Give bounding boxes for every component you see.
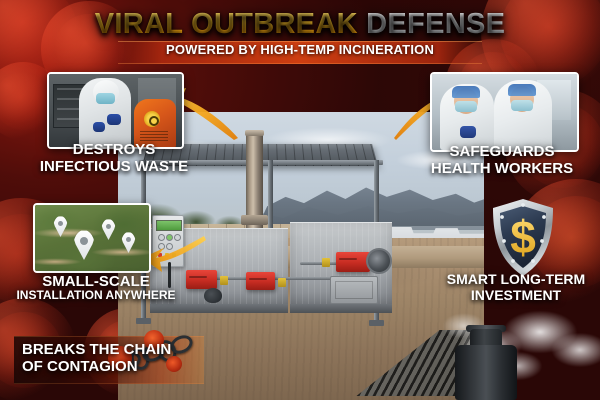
photo-glove-left: [93, 122, 105, 132]
arrow-to-map-photo: [142, 232, 206, 274]
callout-line-2: HEALTH WORKERS: [412, 160, 592, 177]
title-plain: DEFENSE: [366, 8, 505, 40]
photo-hazmat-worker-with-biohazard-bag: [49, 74, 182, 147]
chimney-top: [245, 130, 264, 136]
right-chamber-base: [290, 304, 392, 313]
blower-motor: [204, 288, 222, 303]
callout-label-breaks-chain: BREAKS THE CHAIN OF CONTAGION: [22, 341, 222, 375]
photo-aerial-map: [35, 205, 149, 271]
page-title: VIRAL OUTBREAK DEFENSE: [0, 8, 600, 41]
valve-3[interactable]: [322, 258, 330, 267]
photo-health-workers-in-ppe: [432, 74, 577, 150]
shield-dollar-icon[interactable]: $: [489, 197, 557, 279]
exhaust-drum: [455, 345, 517, 400]
fan-wheel: [366, 248, 392, 274]
photo-face-shield-left: [452, 86, 480, 98]
callout-card-small-scale[interactable]: [33, 203, 151, 273]
panel-display: [156, 220, 182, 231]
callout-line-2: OF CONTAGION: [22, 358, 222, 375]
callout-line-1: SMART LONG-TERM: [432, 272, 600, 288]
title-highlight: VIRAL OUTBREAK: [95, 8, 358, 40]
photo-blue-glove: [460, 126, 476, 138]
callout-card-destroys-waste[interactable]: [47, 72, 184, 149]
photo-mask-right: [511, 100, 533, 111]
photo-face-mask: [96, 93, 115, 104]
callout-label-smart-investment: SMART LONG-TERM INVESTMENT: [432, 272, 600, 304]
callout-line-1: DESTROYS: [28, 141, 200, 158]
callout-card-safeguards-workers[interactable]: [430, 72, 579, 152]
shield-dollar-symbol: $: [510, 211, 536, 263]
callout-line-1: BREAKS THE CHAIN: [22, 341, 222, 358]
photo-glove-right: [107, 114, 121, 125]
callout-line-2: INVESTMENT: [432, 288, 600, 304]
post-base-right: [369, 320, 384, 326]
callout-label-destroys-waste: DESTROYS INFECTIOUS WASTE: [28, 141, 200, 175]
burner-unit-3: [336, 252, 370, 272]
post-base-left: [136, 318, 151, 324]
loading-door[interactable]: [330, 276, 378, 304]
valve-2[interactable]: [278, 278, 286, 287]
burner-unit-2: [246, 272, 275, 290]
callout-label-safeguards-workers: SAFEGUARDS HEALTH WORKERS: [412, 143, 592, 177]
poster-canvas: DESTROYS INFECTIOUS WASTE SAFEGUARDS HEA…: [0, 0, 600, 400]
biohazard-icon: [144, 111, 160, 127]
page-subtitle: POWERED BY HIGH-TEMP INCINERATION: [0, 42, 600, 57]
callout-label-small-scale-line2: INSTALLATION ANYWHERE: [10, 289, 182, 303]
callout-line-2: INFECTIOUS WASTE: [28, 158, 200, 175]
left-chamber-base: [150, 304, 288, 313]
chimney-base-collar: [241, 215, 268, 225]
photo-face-shield-right: [508, 84, 536, 96]
photo-mask-left: [455, 101, 477, 112]
callout-line-1: SAFEGUARDS: [412, 143, 592, 160]
valve-1[interactable]: [220, 276, 228, 285]
